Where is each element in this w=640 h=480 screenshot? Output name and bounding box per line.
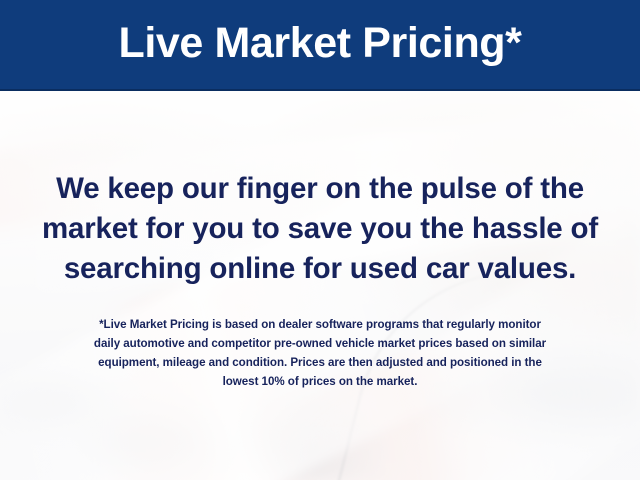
disclaimer-line: equipment, mileage and condition. Prices…	[22, 353, 618, 372]
disclaimer-line: daily automotive and competitor pre-owne…	[22, 334, 618, 353]
disclaimer-line: lowest 10% of prices on the market.	[22, 372, 618, 391]
headline-line: searching online for used car values.	[28, 249, 612, 289]
content-area: We keep our finger on the pulse of the m…	[0, 91, 640, 480]
disclaimer-text: *Live Market Pricing is based on dealer …	[22, 315, 618, 391]
page-title: Live Market Pricing*	[118, 22, 521, 67]
headline-line: market for you to save you the hassle of	[28, 209, 612, 249]
live-market-pricing-banner: Live Market Pricing* We keep our finger …	[0, 0, 640, 480]
header-band: Live Market Pricing*	[0, 0, 640, 91]
headline-copy: We keep our finger on the pulse of the m…	[28, 169, 612, 289]
disclaimer-line: *Live Market Pricing is based on dealer …	[22, 315, 618, 334]
headline-line: We keep our finger on the pulse of the	[28, 169, 612, 209]
